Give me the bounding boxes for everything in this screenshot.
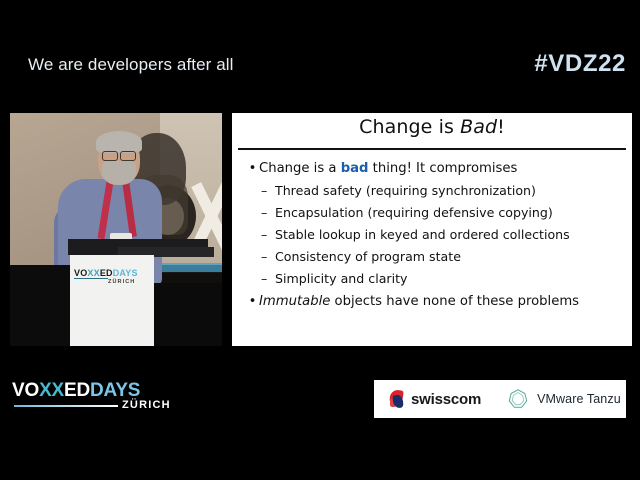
speaker-video-panel[interactable]: VOXXEDDAYS ZÜRICH bbox=[10, 113, 222, 346]
bullet-marker: – bbox=[261, 207, 275, 220]
sponsor-name: swisscom bbox=[411, 391, 481, 408]
bullet-level2: –Stable lookup in keyed and ordered coll… bbox=[246, 229, 570, 242]
bullet-level2: –Encapsulation (requiring defensive copy… bbox=[246, 207, 553, 220]
list-item: •Change is a bad thing! It compromises bbox=[246, 157, 632, 180]
logo-xx: XX bbox=[39, 380, 64, 401]
logo-days: DAYS bbox=[90, 380, 140, 401]
sponsor-swisscom[interactable]: swisscom bbox=[388, 389, 481, 409]
podium-xx: XX bbox=[87, 268, 99, 278]
bullet-text: Thread safety (requiring synchronization… bbox=[275, 183, 536, 198]
tanzu-hexagon-icon bbox=[507, 388, 529, 410]
room-dark-left bbox=[10, 265, 70, 346]
bullet-text-pre: Change is a bbox=[259, 161, 341, 176]
slide-title-end: ! bbox=[497, 116, 505, 138]
bullet-marker: – bbox=[261, 185, 275, 198]
list-item: –Encapsulation (requiring defensive copy… bbox=[246, 202, 632, 224]
slide-title-italic: Bad bbox=[460, 116, 497, 138]
glasses-icon bbox=[102, 151, 136, 159]
wall-blue-band bbox=[160, 263, 222, 272]
screenshot-root: We are developers after all #VDZ22 VOXXE… bbox=[0, 0, 640, 480]
bullet-marker: • bbox=[246, 162, 259, 175]
bullet-level2: –Consistency of program state bbox=[246, 251, 461, 264]
bullet-marker: – bbox=[261, 229, 275, 242]
podium-days: DAYS bbox=[113, 268, 138, 278]
bullet-level1: •Immutable objects have none of these pr… bbox=[246, 295, 579, 308]
bullet-text: Simplicity and clarity bbox=[275, 271, 407, 286]
room-dark-right bbox=[154, 283, 222, 346]
logo-ed: ED bbox=[64, 380, 90, 401]
logo-underline bbox=[14, 405, 118, 407]
backdrop-letter-x-icon bbox=[188, 185, 222, 247]
bullet-text: Consistency of program state bbox=[275, 249, 461, 264]
slide-panel[interactable]: Change is Bad! •Change is a bad thing! I… bbox=[232, 113, 632, 346]
slide-title: Change is Bad! bbox=[232, 116, 632, 138]
sponsor-bar: swisscom VMware Tanzu bbox=[374, 380, 626, 418]
bullet-text-post: objects have none of these problems bbox=[330, 294, 579, 309]
swisscom-lifeform-icon bbox=[388, 389, 405, 409]
podium-sign-rule bbox=[74, 278, 108, 279]
bullet-marker: • bbox=[246, 295, 259, 308]
list-item: –Simplicity and clarity bbox=[246, 268, 632, 290]
bullet-level1: •Change is a bad thing! It compromises bbox=[246, 162, 517, 175]
podium-ed: ED bbox=[100, 268, 113, 278]
header-bar: We are developers after all #VDZ22 bbox=[0, 48, 640, 92]
podium-sign-city: ZÜRICH bbox=[108, 279, 135, 285]
bullet-text: Encapsulation (requiring defensive copyi… bbox=[275, 205, 553, 220]
slide-bullet-list: •Change is a bad thing! It compromises –… bbox=[246, 157, 632, 313]
bullet-text-post: thing! It compromises bbox=[368, 161, 517, 176]
bullet-text: Stable lookup in keyed and ordered colle… bbox=[275, 227, 570, 242]
sponsor-name: VMware Tanzu bbox=[537, 392, 621, 406]
list-item: –Thread safety (requiring synchronizatio… bbox=[246, 180, 632, 202]
bullet-italic: Immutable bbox=[259, 294, 330, 309]
bullet-marker: – bbox=[261, 251, 275, 264]
slide-title-plain: Change is bbox=[359, 116, 460, 138]
logo-vox: VO bbox=[12, 380, 39, 401]
event-hashtag: #VDZ22 bbox=[534, 50, 626, 78]
speaker-beard bbox=[102, 161, 136, 185]
list-item: –Stable lookup in keyed and ordered coll… bbox=[246, 224, 632, 246]
header-title: We are developers after all bbox=[28, 55, 234, 75]
list-item: –Consistency of program state bbox=[246, 246, 632, 268]
voxxed-days-logo: VOXXEDDAYS ZÜRICH bbox=[12, 380, 170, 420]
podium-vox: VO bbox=[74, 268, 87, 278]
podium-sign-logo: VOXXEDDAYS bbox=[74, 268, 152, 278]
bullet-level2: –Simplicity and clarity bbox=[246, 273, 407, 286]
list-item: •Immutable objects have none of these pr… bbox=[246, 290, 632, 313]
speaker-hair bbox=[96, 131, 142, 153]
slide-title-divider bbox=[238, 148, 626, 150]
logo-city: ZÜRICH bbox=[122, 399, 171, 411]
bullet-highlight: bad bbox=[341, 161, 369, 176]
sponsor-vmware-tanzu[interactable]: VMware Tanzu bbox=[507, 388, 621, 410]
bullet-marker: – bbox=[261, 273, 275, 286]
bullet-level2: –Thread safety (requiring synchronizatio… bbox=[246, 185, 536, 198]
